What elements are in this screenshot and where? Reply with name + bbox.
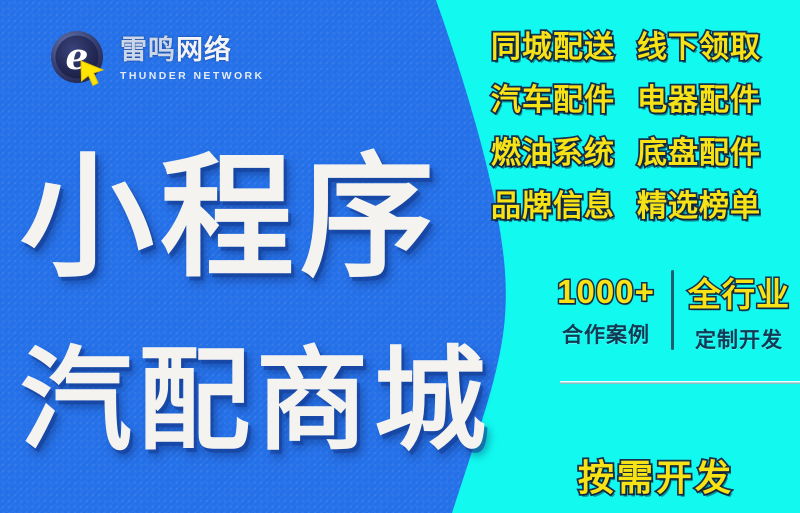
brand-name-cn-secondary: 网络: [176, 35, 232, 65]
service-item[interactable]: 品牌信息: [491, 181, 615, 225]
headline-secondary: 汽配商城: [20, 345, 492, 457]
stats-block: 1000+ 合作案例 全行业 定制开发: [545, 268, 800, 354]
headline-primary: 小程序: [20, 152, 440, 286]
brand-name-en: THUNDER NETWORK: [120, 71, 265, 82]
stat-item-industry: 全行业 定制开发: [678, 268, 800, 354]
service-item[interactable]: 电器配件: [637, 75, 761, 119]
service-row: 同城配送 线下领取: [452, 22, 800, 66]
brand-logo-text: 雷鸣网络 THUNDER NETWORK: [120, 37, 265, 82]
slogan-text: 按需开发: [578, 449, 734, 501]
service-row: 品牌信息 精选榜单: [452, 181, 800, 225]
thunder-e-logo-icon: e: [48, 28, 110, 90]
stat-label: 合作案例: [562, 319, 650, 349]
brand-name-cn-primary: 雷鸣: [120, 35, 176, 65]
service-item[interactable]: 汽车配件: [491, 75, 615, 119]
brand-logo[interactable]: e 雷鸣网络 THUNDER NETWORK: [48, 28, 265, 90]
promo-banner: e 雷鸣网络 THUNDER NETWORK 小程序 汽配商城 同城配送 线下领…: [0, 0, 800, 513]
stat-item-cases: 1000+ 合作案例: [545, 268, 667, 354]
horizontal-divider: [560, 381, 800, 384]
service-keyword-list: 同城配送 线下领取 汽车配件 电器配件 燃油系统 底盘配件 品牌信息 精选榜单: [452, 22, 800, 234]
service-item[interactable]: 同城配送: [491, 22, 615, 66]
brand-name-cn: 雷鸣网络: [120, 37, 265, 64]
service-item[interactable]: 线下领取: [637, 22, 761, 66]
stat-value: 全行业: [688, 268, 790, 316]
stat-value: 1000+: [557, 273, 655, 311]
service-row: 汽车配件 电器配件: [452, 75, 800, 119]
service-item[interactable]: 燃油系统: [491, 128, 615, 172]
service-item[interactable]: 底盘配件: [637, 128, 761, 172]
service-row: 燃油系统 底盘配件: [452, 128, 800, 172]
service-item[interactable]: 精选榜单: [637, 181, 761, 225]
stat-label: 定制开发: [695, 324, 783, 354]
stats-divider: [671, 270, 674, 350]
